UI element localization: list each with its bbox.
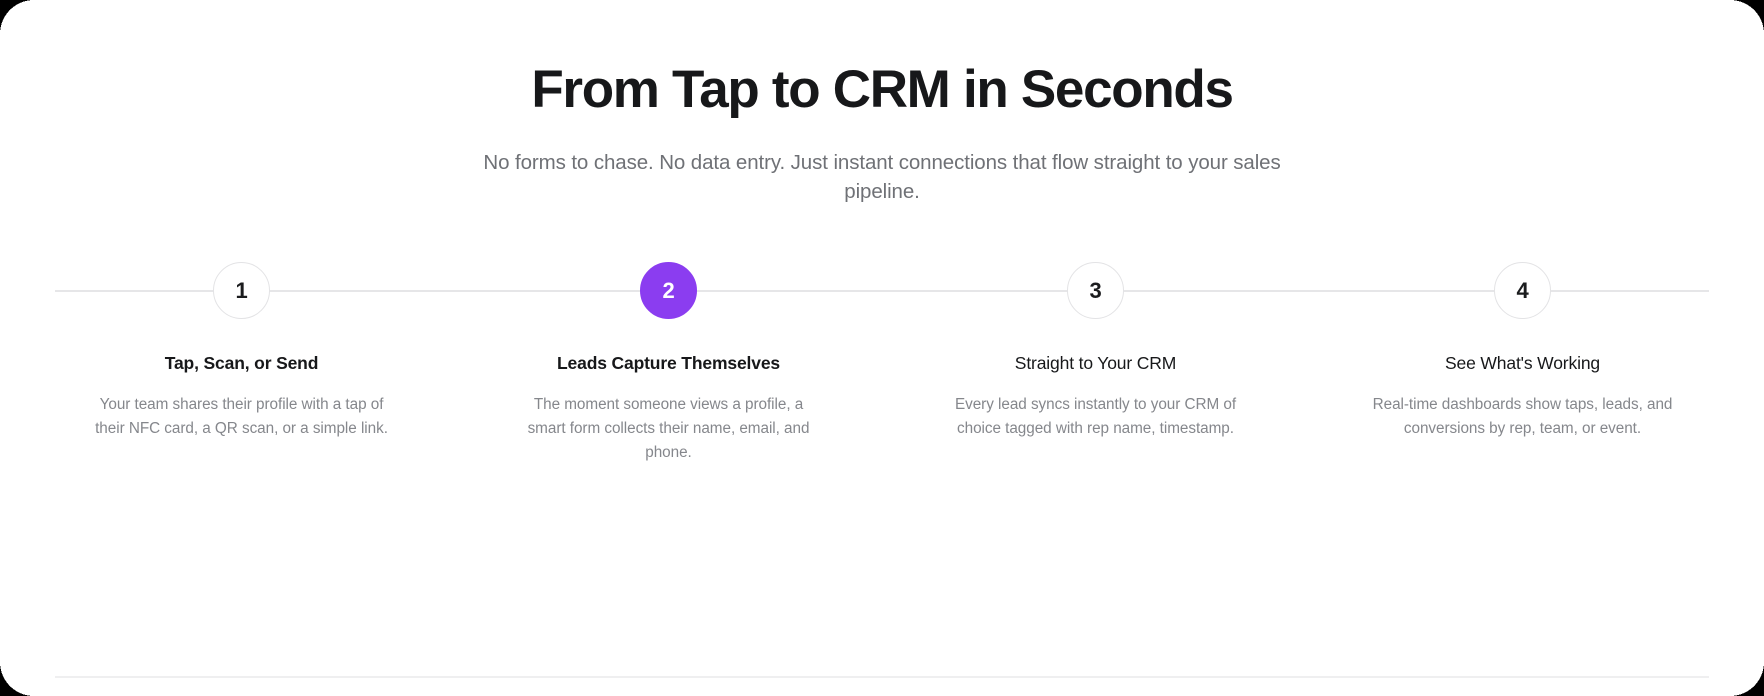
page-root: From Tap to CRM in Seconds No forms to c… [0, 0, 1764, 696]
bottom-divider [55, 676, 1709, 678]
step-number-badge-2[interactable]: 2 [640, 262, 697, 319]
section-header: From Tap to CRM in Seconds No forms to c… [0, 0, 1764, 206]
page-title: From Tap to CRM in Seconds [0, 62, 1764, 118]
step-description-2: The moment someone views a profile, a sm… [514, 393, 824, 464]
timeline-step-2[interactable]: 2Leads Capture ThemselvesThe moment some… [455, 262, 882, 464]
step-title-4: See What's Working [1445, 352, 1600, 375]
step-number-badge-3[interactable]: 3 [1067, 262, 1124, 319]
step-number-badge-1[interactable]: 1 [213, 262, 270, 319]
timeline-step-1[interactable]: 1Tap, Scan, or SendYour team shares thei… [28, 262, 455, 440]
step-description-3: Every lead syncs instantly to your CRM o… [941, 393, 1251, 440]
window-corner-bottom-left [0, 662, 34, 696]
window-corner-bottom-right [1730, 662, 1764, 696]
timeline-step-3[interactable]: 3Straight to Your CRMEvery lead syncs in… [882, 262, 1309, 440]
process-timeline: 1Tap, Scan, or SendYour team shares thei… [0, 262, 1764, 464]
timeline-steps: 1Tap, Scan, or SendYour team shares thei… [28, 262, 1736, 464]
step-description-4: Real-time dashboards show taps, leads, a… [1368, 393, 1678, 440]
step-number-badge-4[interactable]: 4 [1494, 262, 1551, 319]
step-title-3: Straight to Your CRM [1015, 352, 1176, 375]
step-title-2: Leads Capture Themselves [557, 352, 780, 375]
step-title-1: Tap, Scan, or Send [165, 352, 319, 375]
step-description-1: Your team shares their profile with a ta… [87, 393, 397, 440]
timeline-step-4[interactable]: 4See What's WorkingReal-time dashboards … [1309, 262, 1736, 440]
page-subtitle: No forms to chase. No data entry. Just i… [482, 148, 1282, 206]
